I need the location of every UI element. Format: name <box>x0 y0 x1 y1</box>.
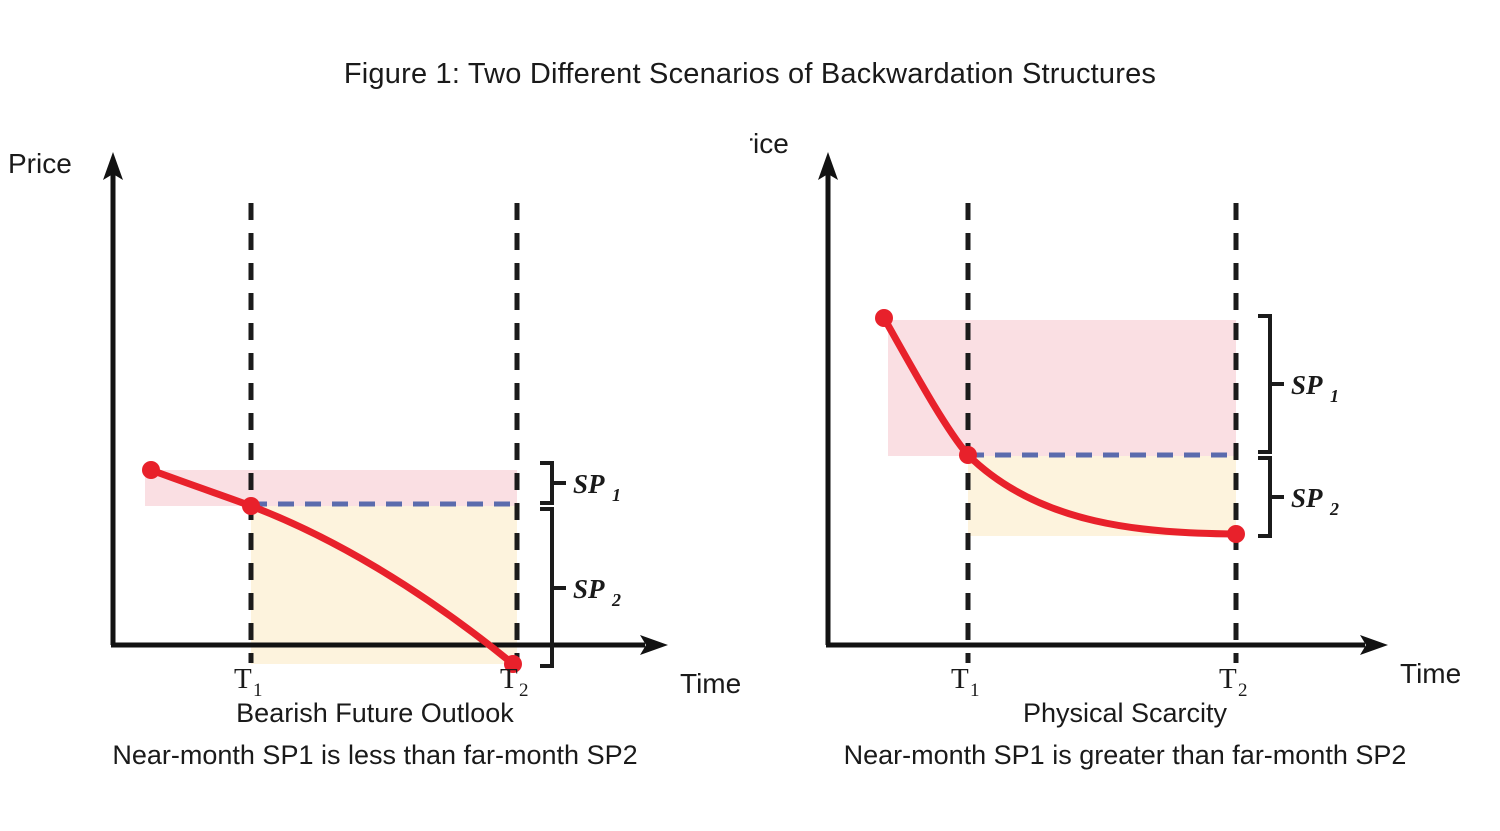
y-axis-label: Price <box>750 128 789 159</box>
sp2-bracket <box>540 509 552 666</box>
sp1-label: SP <box>1291 370 1323 400</box>
x-axis-label: Time <box>680 668 741 699</box>
figure-title: Figure 1: Two Different Scenarios of Bac… <box>0 58 1500 91</box>
sp2-label-subscript: 2 <box>611 590 621 610</box>
sp2-label: SP <box>1291 483 1323 513</box>
sp2-label: SP <box>573 574 605 604</box>
x-axis-label: Time <box>1400 658 1461 689</box>
sp1-bracket <box>540 463 552 503</box>
panel-caption-main: Bearish Future Outlook <box>0 698 750 729</box>
panel-physical-scarcity: SP 1 SP 2 Price Time T 1 T 2 Physical Sc… <box>750 118 1500 831</box>
sp1-bracket <box>1258 316 1270 452</box>
curve-point-t1 <box>242 497 260 515</box>
sp1-label-subscript: 1 <box>1330 386 1339 406</box>
curve-point-spot <box>142 461 160 479</box>
sp2-label-subscript: 2 <box>1329 499 1339 519</box>
curve-point-t2 <box>1227 525 1245 543</box>
panel-caption-main: Physical Scarcity <box>750 698 1500 729</box>
sp1-region <box>888 320 1236 456</box>
panel-bearish-future-outlook: SP 1 SP 2 Price Time T 1 T 2 Bearish Fut… <box>0 118 750 831</box>
figure-panels: SP 1 SP 2 Price Time T 1 T 2 Bearish Fut… <box>0 118 1500 831</box>
y-axis-label: Price <box>8 148 72 179</box>
panel-caption-sub: Near-month SP1 is greater than far-month… <box>750 740 1500 771</box>
curve-point-t1 <box>959 446 977 464</box>
sp2-region <box>251 506 517 664</box>
t1-label: T <box>951 663 969 695</box>
panel-caption-sub: Near-month SP1 is less than far-month SP… <box>0 740 750 771</box>
sp1-label-subscript: 1 <box>612 485 621 505</box>
t2-label: T <box>1219 663 1237 695</box>
t1-label: T <box>234 663 252 695</box>
curve-point-spot <box>875 309 893 327</box>
sp2-bracket <box>1258 458 1270 536</box>
t2-label: T <box>500 663 518 695</box>
sp1-label: SP <box>573 469 605 499</box>
